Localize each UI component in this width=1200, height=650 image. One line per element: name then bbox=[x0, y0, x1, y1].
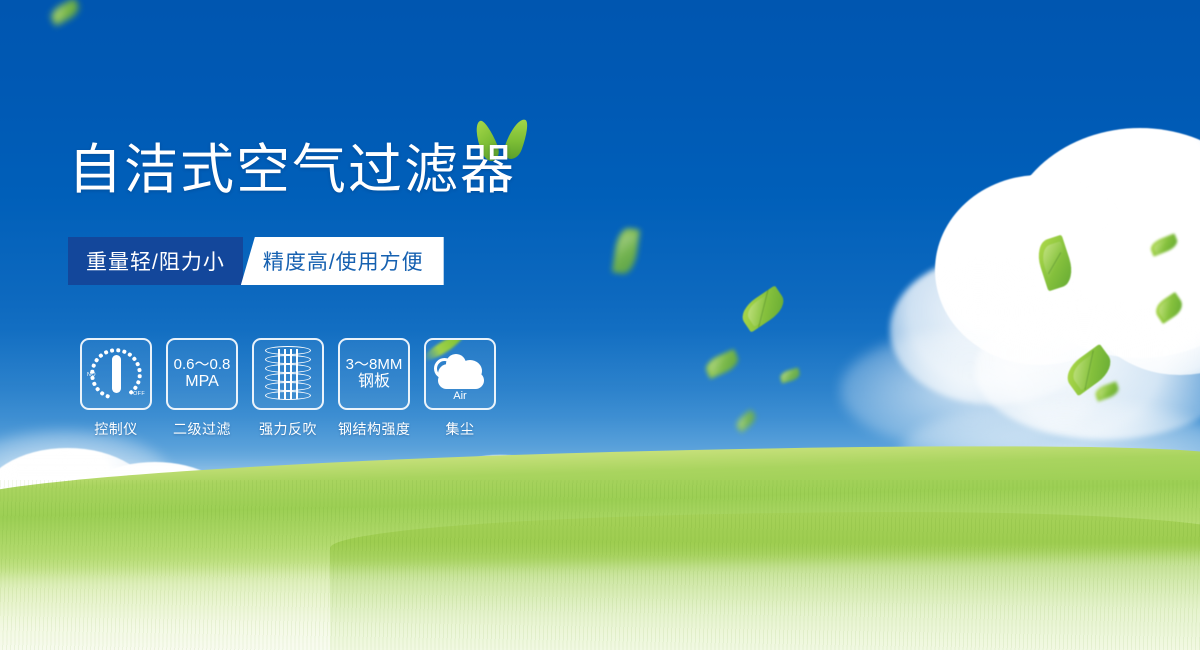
page-title: 自洁式空气过滤器 bbox=[68, 143, 516, 197]
product-banner: 自洁式空气过滤器 重量轻/阻力小 精度高/使用方便 bbox=[0, 0, 1200, 650]
feature-icon-box: NO OFF bbox=[80, 338, 152, 410]
steel-thickness-text: 3〜8MM bbox=[346, 357, 403, 374]
feature-caption: 强力反吹 bbox=[252, 419, 324, 439]
feature-item-steel[interactable]: 3〜8MM 钢板 钢结构强度 bbox=[338, 338, 410, 439]
gauge-icon: NO OFF bbox=[86, 345, 146, 403]
feature-icon-box: 0.6〜0.8 MPA bbox=[166, 338, 238, 410]
feature-icon-box bbox=[252, 338, 324, 410]
grass-texture bbox=[0, 480, 1200, 650]
coil-filter-icon bbox=[265, 346, 311, 402]
feature-caption: 控制仪 bbox=[80, 419, 152, 439]
feature-caption: 钢结构强度 bbox=[338, 419, 410, 439]
feature-icon-box: Air bbox=[424, 338, 496, 410]
feature-item-backblow[interactable]: 强力反吹 bbox=[252, 338, 324, 439]
cloud-body bbox=[438, 372, 484, 389]
air-cloud-icon: Air bbox=[432, 352, 488, 398]
subtitle-bar: 重量轻/阻力小 精度高/使用方便 bbox=[68, 237, 444, 285]
gauge-label-off: OFF bbox=[133, 391, 145, 397]
subtitle-left-segment: 重量轻/阻力小 bbox=[68, 237, 243, 285]
gauge-label-on: NO bbox=[87, 372, 96, 378]
air-label: Air bbox=[432, 390, 488, 402]
feature-item-dust[interactable]: Air 集尘 bbox=[424, 338, 496, 439]
pressure-unit-text: MPA bbox=[185, 373, 218, 391]
feature-caption: 集尘 bbox=[424, 419, 496, 439]
gauge-needle bbox=[112, 355, 121, 393]
steel-plate-text: 钢板 bbox=[358, 373, 390, 391]
pressure-range-text: 0.6〜0.8 bbox=[174, 357, 231, 374]
feature-item-controller[interactable]: NO OFF 控制仪 bbox=[80, 338, 152, 439]
subtitle-right-segment: 精度高/使用方便 bbox=[241, 237, 444, 285]
feature-caption: 二级过滤 bbox=[166, 419, 238, 439]
feature-list: NO OFF 控制仪 0.6〜0.8 MPA 二级过滤 bbox=[80, 338, 496, 439]
feature-item-pressure[interactable]: 0.6〜0.8 MPA 二级过滤 bbox=[166, 338, 238, 439]
feature-icon-box: 3〜8MM 钢板 bbox=[338, 338, 410, 410]
